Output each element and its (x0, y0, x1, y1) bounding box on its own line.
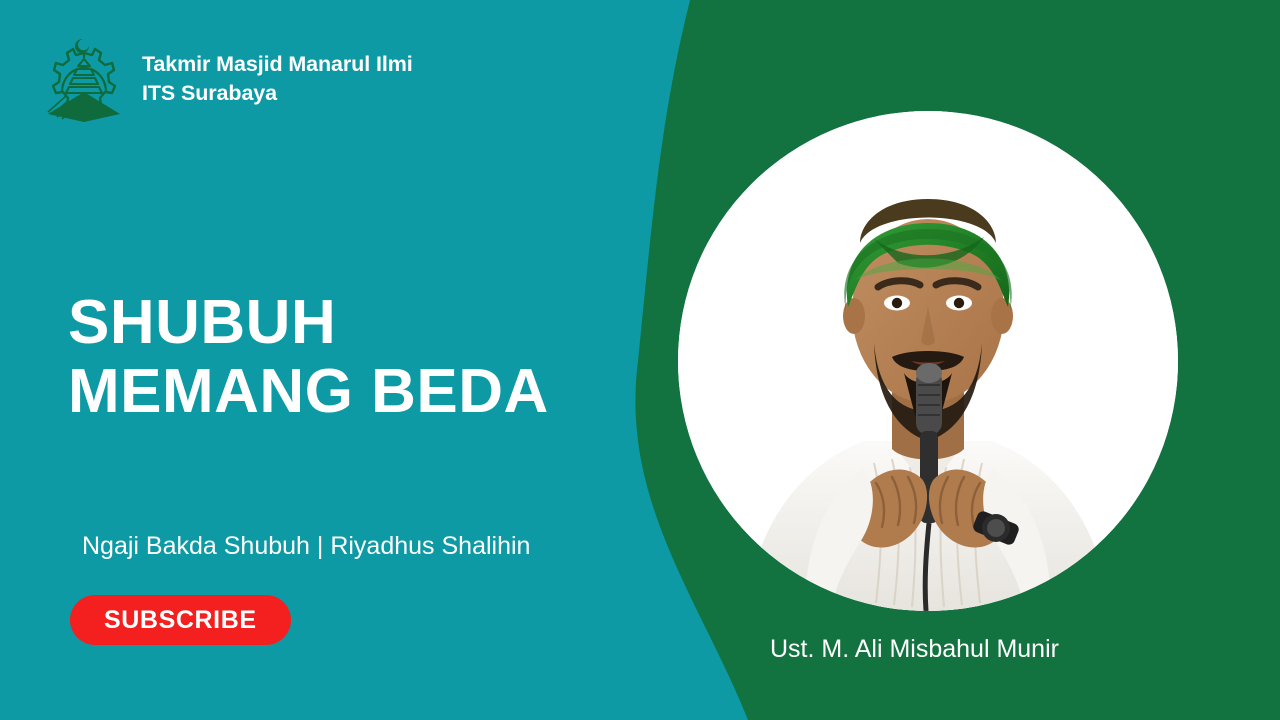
mosque-gear-crescent-logo-icon (42, 36, 126, 122)
brand-header: Takmir Masjid Manarul Ilmi ITS Surabaya (42, 36, 413, 122)
page-title: SHUBUH MEMANG BEDA (68, 288, 549, 427)
youtube-thumbnail: Takmir Masjid Manarul Ilmi ITS Surabaya … (0, 0, 1280, 720)
headline-line-2: MEMANG BEDA (68, 357, 549, 426)
brand-line-1: Takmir Masjid Manarul Ilmi (142, 52, 413, 76)
subtitle-text: Ngaji Bakda Shubuh | Riyadhus Shalihin (82, 531, 530, 561)
brand-line-2: ITS Surabaya (142, 79, 413, 108)
brand-name: Takmir Masjid Manarul Ilmi ITS Surabaya (142, 50, 413, 107)
speaker-portrait-circle (678, 111, 1178, 611)
headline-line-1: SHUBUH (68, 288, 549, 357)
speaker-portrait (678, 111, 1178, 611)
speaker-name-label: Ust. M. Ali Misbahul Munir (770, 634, 1059, 664)
subscribe-button[interactable]: SUBSCRIBE (70, 595, 291, 645)
